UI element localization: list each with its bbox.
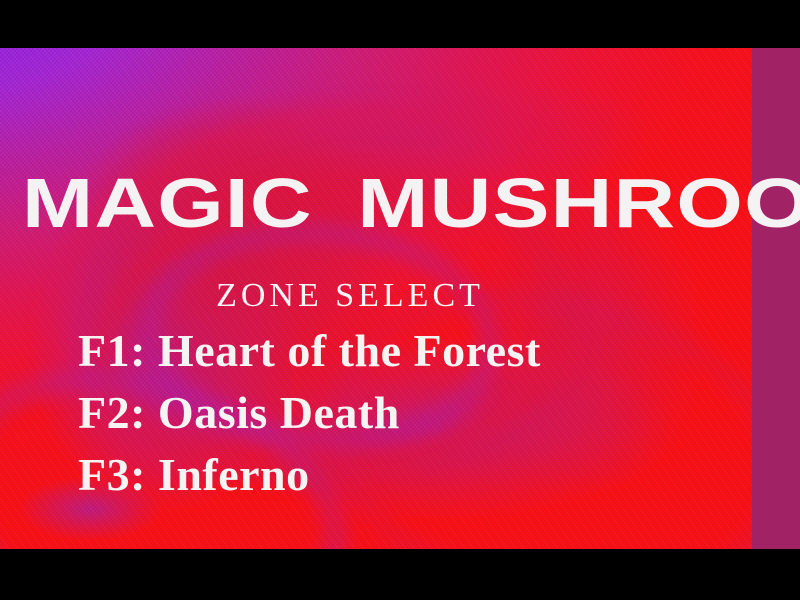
game-screen: MAGIC MUSHROOM ZONE SELECT F1: Heart of … bbox=[0, 0, 800, 600]
title-screen-text: MAGIC MUSHROOM ZONE SELECT F1: Heart of … bbox=[0, 48, 752, 549]
game-title: MAGIC MUSHROOM bbox=[22, 166, 800, 240]
zone-select-heading: ZONE SELECT bbox=[0, 276, 700, 316]
zone-menu-item-f3[interactable]: F3: Inferno bbox=[78, 444, 738, 506]
right-side-strip bbox=[752, 48, 800, 549]
zone-menu: F1: Heart of the Forest F2: Oasis Death … bbox=[78, 320, 738, 506]
zone-menu-item-f1[interactable]: F1: Heart of the Forest bbox=[78, 320, 738, 382]
zone-menu-item-f2[interactable]: F2: Oasis Death bbox=[78, 382, 738, 444]
